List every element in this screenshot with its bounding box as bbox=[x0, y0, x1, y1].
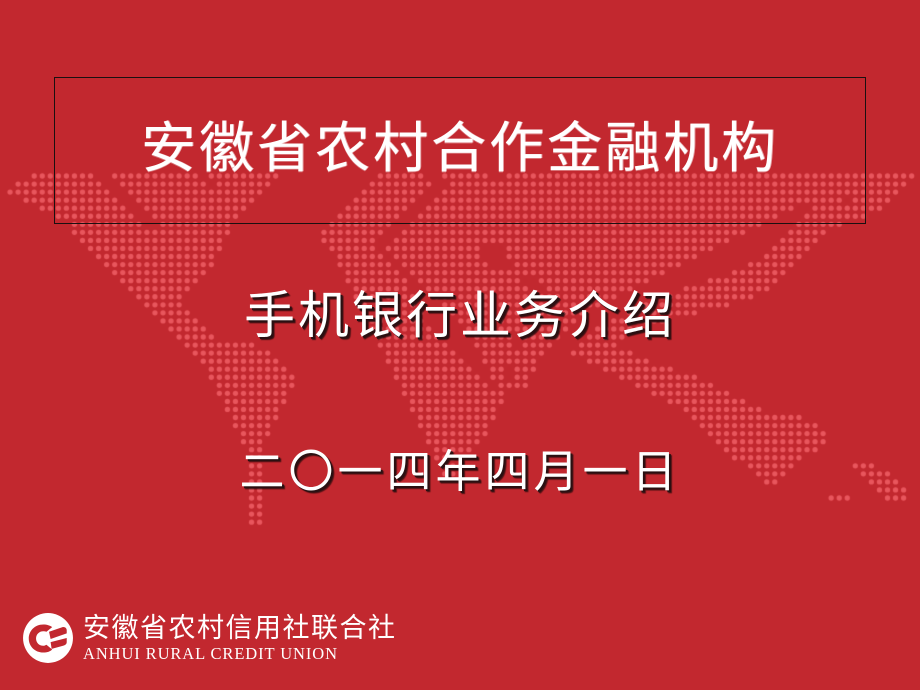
organization-logo: 安徽省农村信用社联合社 ANHUI RURAL CREDIT UNION bbox=[22, 612, 397, 664]
credit-union-emblem-icon bbox=[22, 612, 74, 664]
page-title: 安徽省农村合作金融机构 bbox=[0, 121, 920, 176]
subtitle: 手机银行业务介绍 bbox=[0, 292, 920, 343]
presentation-title-slide: 安徽省农村合作金融机构 手机银行业务介绍 二〇一四年四月一日 安徽省农村信用社联… bbox=[0, 0, 920, 690]
presentation-date: 二〇一四年四月一日 bbox=[0, 450, 920, 495]
logo-text-block: 安徽省农村信用社联合社 ANHUI RURAL CREDIT UNION bbox=[83, 612, 397, 663]
logo-english-name: ANHUI RURAL CREDIT UNION bbox=[83, 645, 397, 664]
logo-chinese-name: 安徽省农村信用社联合社 bbox=[83, 614, 397, 642]
